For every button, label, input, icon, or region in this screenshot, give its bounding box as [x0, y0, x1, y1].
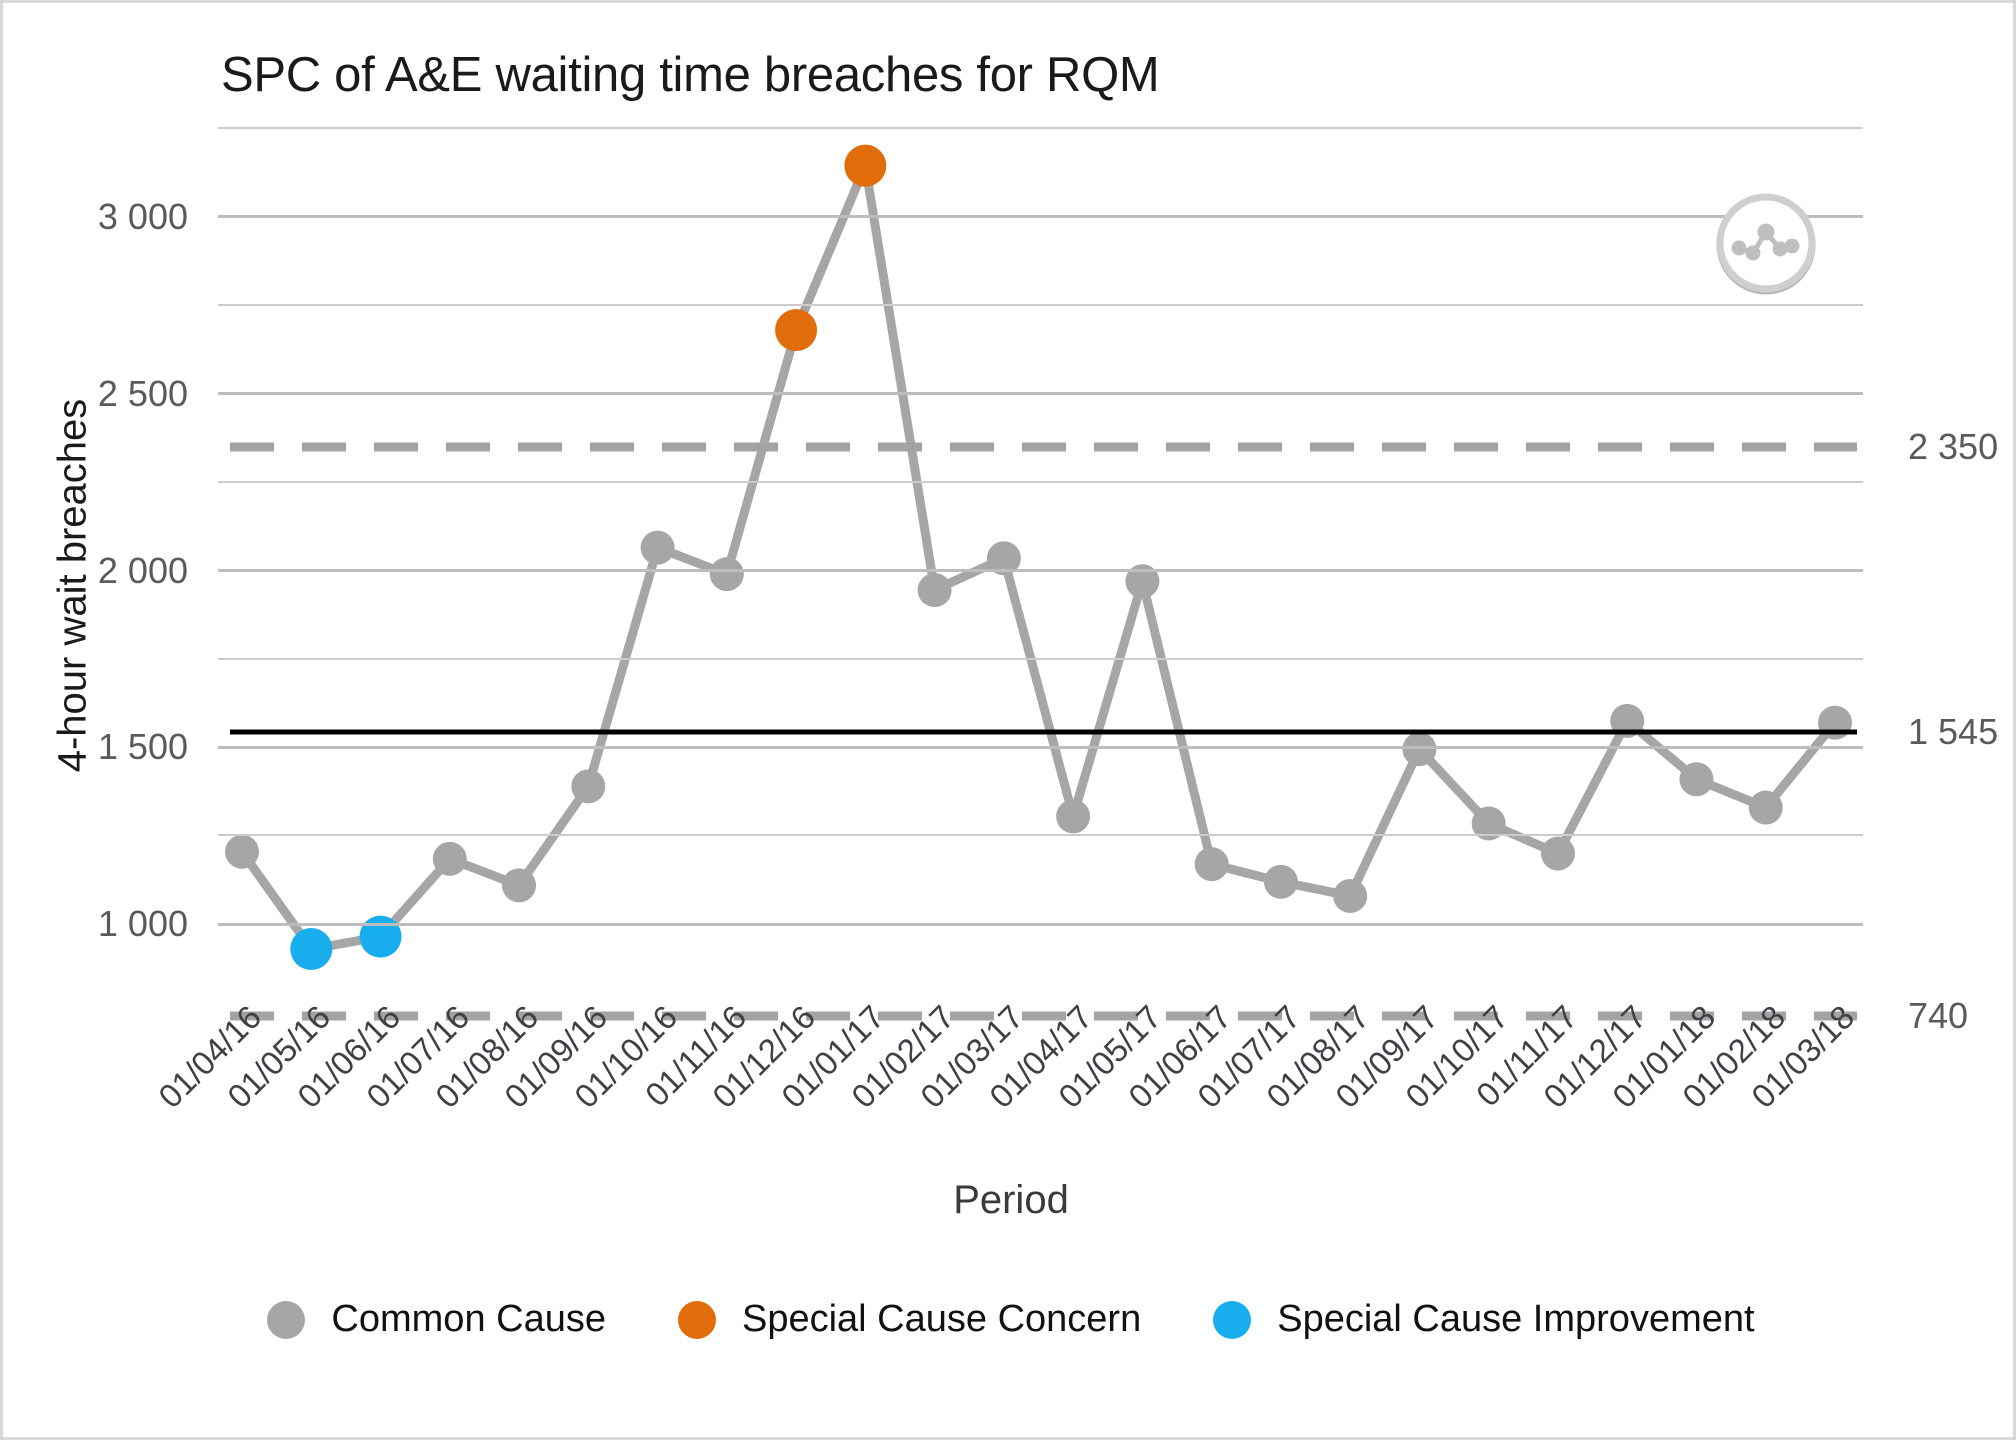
spc-chart-page: SPC of A&E waiting time breaches for RQM… [0, 0, 2016, 1440]
page-title: SPC of A&E waiting time breaches for RQM [221, 47, 1159, 103]
y-axis-tick-label: 2 000 [3, 550, 188, 592]
legend-marker-icon [1213, 1301, 1251, 1339]
upper-control-limit [230, 442, 1857, 451]
legend-label: Common Cause [331, 1298, 606, 1341]
legend-label: Special Cause Improvement [1277, 1298, 1754, 1341]
x-axis-title: Period [3, 1178, 2016, 1223]
legend-item[interactable]: Special Cause Concern [678, 1298, 1141, 1341]
y-axis-tick-label: 1 000 [3, 903, 188, 945]
legend-marker-icon [678, 1301, 716, 1339]
lower-control-limit-label: 740 [1908, 995, 1968, 1037]
legend-item[interactable]: Special Cause Improvement [1213, 1298, 1754, 1341]
legend-marker-icon [267, 1301, 305, 1339]
mean-line-label: 1 545 [1908, 711, 1998, 753]
legend-label: Special Cause Concern [742, 1298, 1141, 1341]
y-axis-tick-label: 2 500 [3, 373, 188, 415]
y-axis-tick-label: 3 000 [3, 196, 188, 238]
plot-area: 1 0001 5002 0002 5003 000 2 3501 545740 [218, 125, 1863, 995]
y-axis-tick-labels: 1 0001 5002 0002 5003 000 [218, 125, 1863, 995]
legend: Common CauseSpecial Cause ConcernSpecial… [3, 1298, 2016, 1341]
y-axis-tick-label: 1 500 [3, 726, 188, 768]
mean-line [230, 729, 1857, 734]
upper-control-limit-label: 2 350 [1908, 426, 1998, 468]
legend-item[interactable]: Common Cause [267, 1298, 606, 1341]
spc-chart-logo-icon [1712, 190, 1820, 298]
x-axis-tick-labels: 01/04/1601/05/1601/06/1601/07/1601/08/16… [218, 998, 1863, 1188]
